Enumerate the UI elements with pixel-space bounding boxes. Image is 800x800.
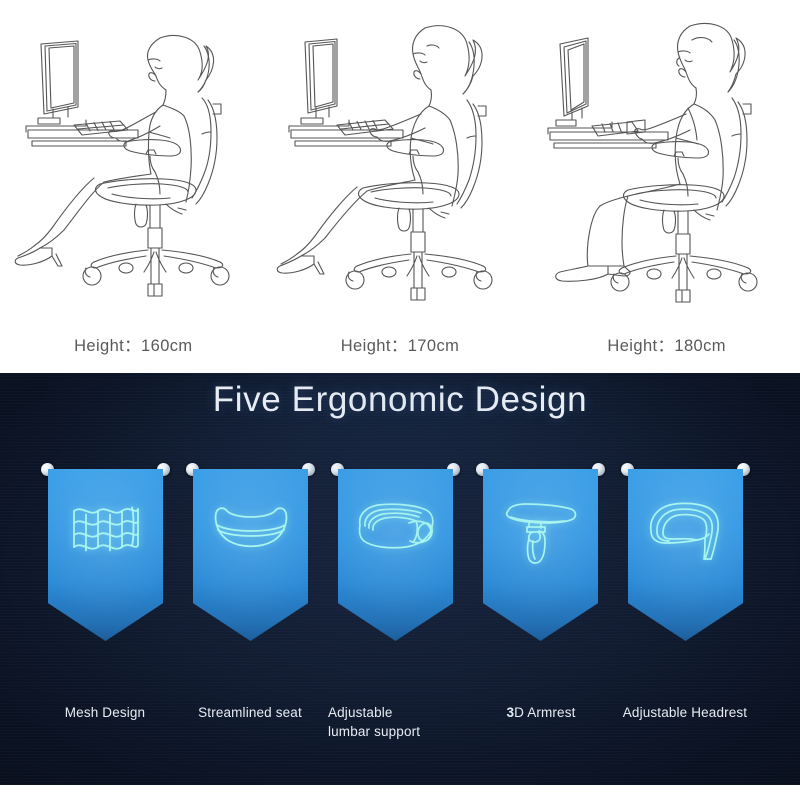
caption-row: Mesh Design Streamlined seat Adjustable … xyxy=(0,703,800,773)
posture-illustration-3 xyxy=(533,8,800,308)
mesh-fabric-icon xyxy=(48,501,163,579)
headrest-icon xyxy=(628,501,743,579)
caption-3d-rest: D Armrest xyxy=(514,705,575,720)
posture-illustration-row xyxy=(0,8,800,308)
armrest-icon xyxy=(483,501,598,579)
five-ergonomic-design-section: Five Ergonomic Design xyxy=(0,373,800,785)
banner-streamlined-seat[interactable] xyxy=(193,463,308,643)
banner-lumbar-support[interactable] xyxy=(338,463,453,643)
caption-adjustable-headrest: Adjustable Headrest xyxy=(610,703,760,722)
caption-3d-armrest: 3D Armrest xyxy=(466,703,616,722)
man-at-desk-180-icon xyxy=(542,8,792,308)
product-infographic-page: Height：160cm Height：170cm Height：180cm F… xyxy=(0,0,800,800)
seat-cushion-icon xyxy=(193,501,308,579)
section-headline: Five Ergonomic Design xyxy=(0,380,800,420)
caption-streamlined-seat: Streamlined seat xyxy=(175,703,325,722)
lumbar-support-icon xyxy=(338,501,453,579)
woman-at-desk-170-icon xyxy=(275,8,525,308)
posture-illustration-2 xyxy=(267,8,534,308)
posture-illustration-1 xyxy=(0,8,267,308)
banner-row xyxy=(0,463,800,648)
caption-mesh-design: Mesh Design xyxy=(30,703,180,722)
banner-adjustable-headrest[interactable] xyxy=(628,463,743,643)
banner-3d-armrest[interactable] xyxy=(483,463,598,643)
height-label-row: Height：160cm Height：170cm Height：180cm xyxy=(0,332,800,366)
banner-mesh-design[interactable] xyxy=(48,463,163,643)
ergonomic-posture-section: Height：160cm Height：170cm Height：180cm xyxy=(0,0,800,373)
height-label-1: Height：160cm xyxy=(0,332,267,366)
height-label-2: Height：170cm xyxy=(267,332,534,366)
caption-3d-prefix: 3 xyxy=(506,705,514,720)
woman-at-desk-160-icon xyxy=(8,8,258,308)
height-label-3: Height：180cm xyxy=(533,332,800,366)
